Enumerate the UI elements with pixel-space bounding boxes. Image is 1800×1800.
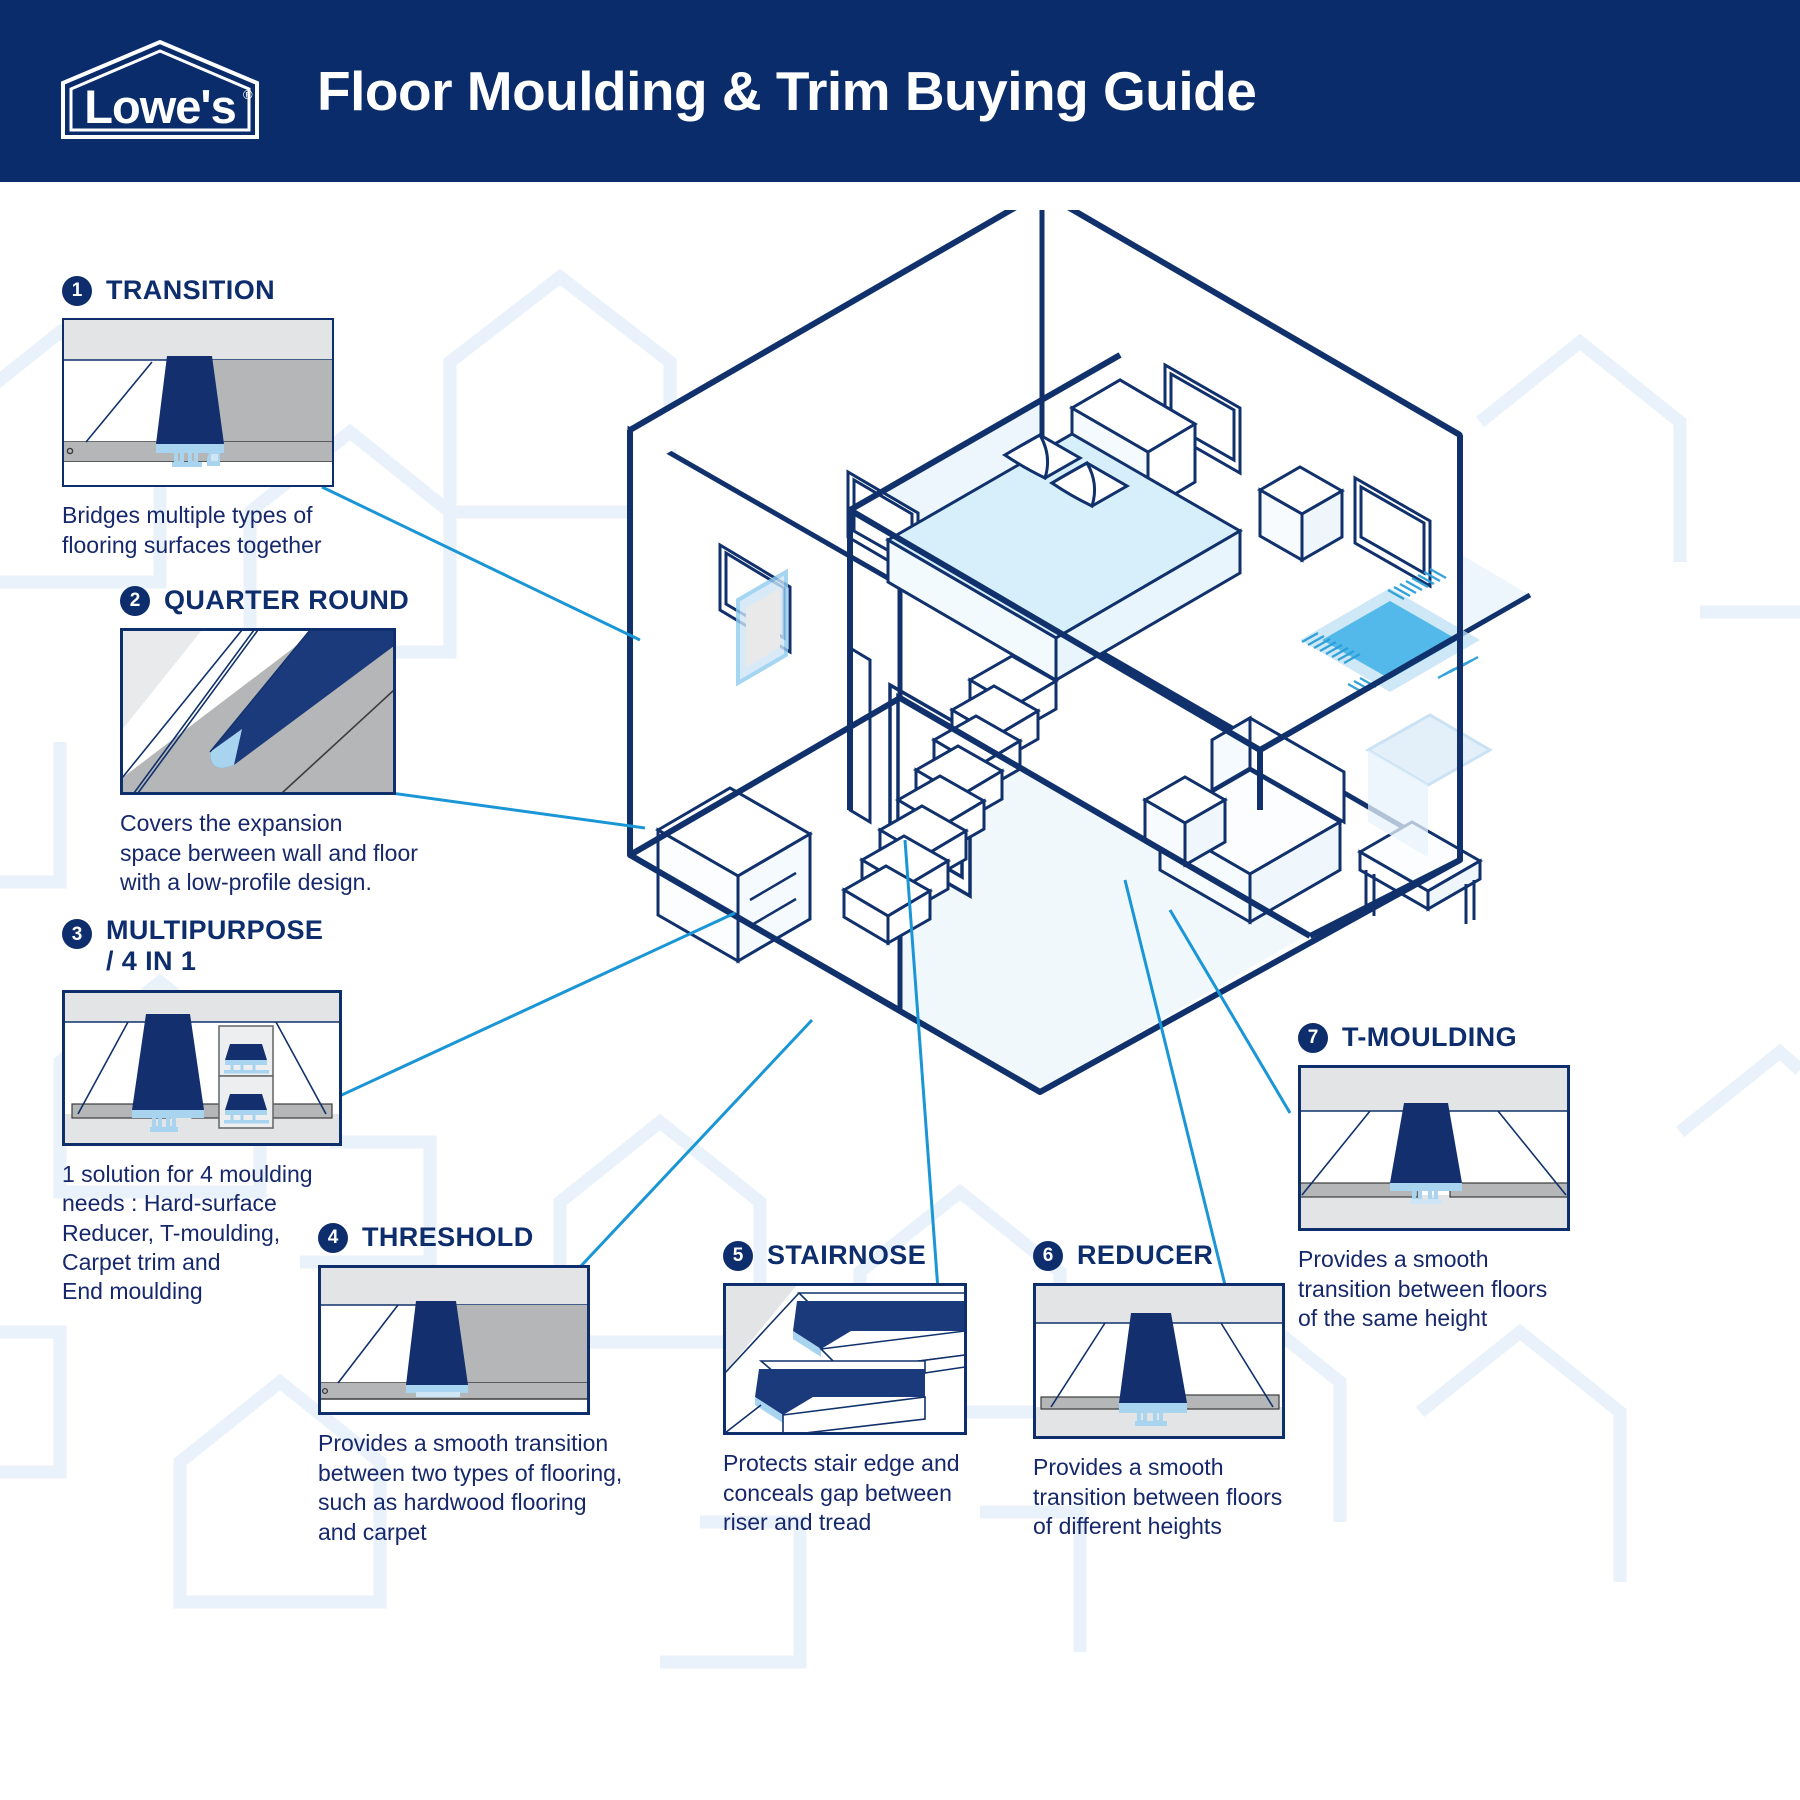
panel-multipurpose-head: 3 MULTIPURPOSE / 4 IN 1	[62, 915, 342, 978]
panel-stairnose: 5 STAIRNOSE	[723, 1240, 967, 1538]
panel-number-badge: 3	[62, 919, 92, 949]
quarter-round-profile-icon	[120, 628, 396, 795]
panel-threshold: 4 THRESHOLD Provides a smooth transition…	[318, 1222, 622, 1547]
panel-caption: 1 solution for 4 moulding needs : Hard-s…	[62, 1160, 342, 1307]
stairnose-profile-icon	[723, 1283, 967, 1435]
panel-title: TRANSITION	[106, 275, 275, 306]
reducer-profile-icon	[1033, 1283, 1285, 1439]
panel-reducer-head: 6 REDUCER	[1033, 1240, 1285, 1271]
svg-text:®: ®	[243, 87, 253, 102]
t-moulding-profile-icon	[1298, 1065, 1570, 1231]
panel-t-moulding-head: 7 T-MOULDING	[1298, 1022, 1570, 1053]
multipurpose-profile-icon	[62, 990, 342, 1146]
panel-number-badge: 2	[120, 586, 150, 616]
lowes-logo[interactable]: Lowe's ®	[55, 37, 265, 145]
threshold-profile-icon	[318, 1265, 590, 1415]
panel-caption: Provides a smooth transition between flo…	[1033, 1453, 1285, 1541]
panel-t-moulding: 7 T-MOULDING Provides a smooth transitio…	[1298, 1022, 1570, 1334]
isometric-house-illustration	[600, 210, 1560, 1110]
page-title: Floor Moulding & Trim Buying Guide	[317, 64, 1256, 119]
panel-caption: Bridges multiple types of flooring surfa…	[62, 501, 334, 560]
panel-title: MULTIPURPOSE / 4 IN 1	[106, 915, 323, 978]
panel-title: QUARTER ROUND	[164, 585, 409, 616]
panel-caption: Provides a smooth transition between flo…	[1298, 1245, 1570, 1333]
panel-title: REDUCER	[1077, 1240, 1213, 1271]
panel-title: THRESHOLD	[362, 1222, 534, 1253]
panel-stairnose-head: 5 STAIRNOSE	[723, 1240, 967, 1271]
panel-number-badge: 7	[1298, 1023, 1328, 1053]
panel-number-badge: 4	[318, 1223, 348, 1253]
panel-number-badge: 1	[62, 276, 92, 306]
transition-profile-icon	[62, 318, 334, 487]
panel-number-badge: 5	[723, 1241, 753, 1271]
panel-title: T-MOULDING	[1342, 1022, 1517, 1053]
panel-reducer: 6 REDUCER Provides a smooth transition b…	[1033, 1240, 1285, 1542]
panel-title: STAIRNOSE	[767, 1240, 926, 1271]
panel-threshold-head: 4 THRESHOLD	[318, 1222, 622, 1253]
page-header: Lowe's ® Floor Moulding & Trim Buying Gu…	[0, 0, 1800, 182]
panel-quarter-round: 2 QUARTER ROUND Covers the expansion spa…	[120, 585, 418, 898]
infographic-root: Lowe's ® Floor Moulding & Trim Buying Gu…	[0, 0, 1800, 1800]
panel-caption: Protects stair edge and conceals gap bet…	[723, 1449, 967, 1537]
panel-caption: Covers the expansion space berween wall …	[120, 809, 418, 897]
svg-text:Lowe's: Lowe's	[84, 80, 235, 133]
panel-transition-head: 1 TRANSITION	[62, 275, 334, 306]
panel-quarter-round-head: 2 QUARTER ROUND	[120, 585, 418, 616]
panel-transition: 1 TRANSITION Bridges multiple types of f…	[62, 275, 334, 560]
panel-number-badge: 6	[1033, 1241, 1063, 1271]
panel-multipurpose: 3 MULTIPURPOSE / 4 IN 1	[62, 915, 342, 1307]
panel-caption: Provides a smooth transition between two…	[318, 1429, 622, 1547]
